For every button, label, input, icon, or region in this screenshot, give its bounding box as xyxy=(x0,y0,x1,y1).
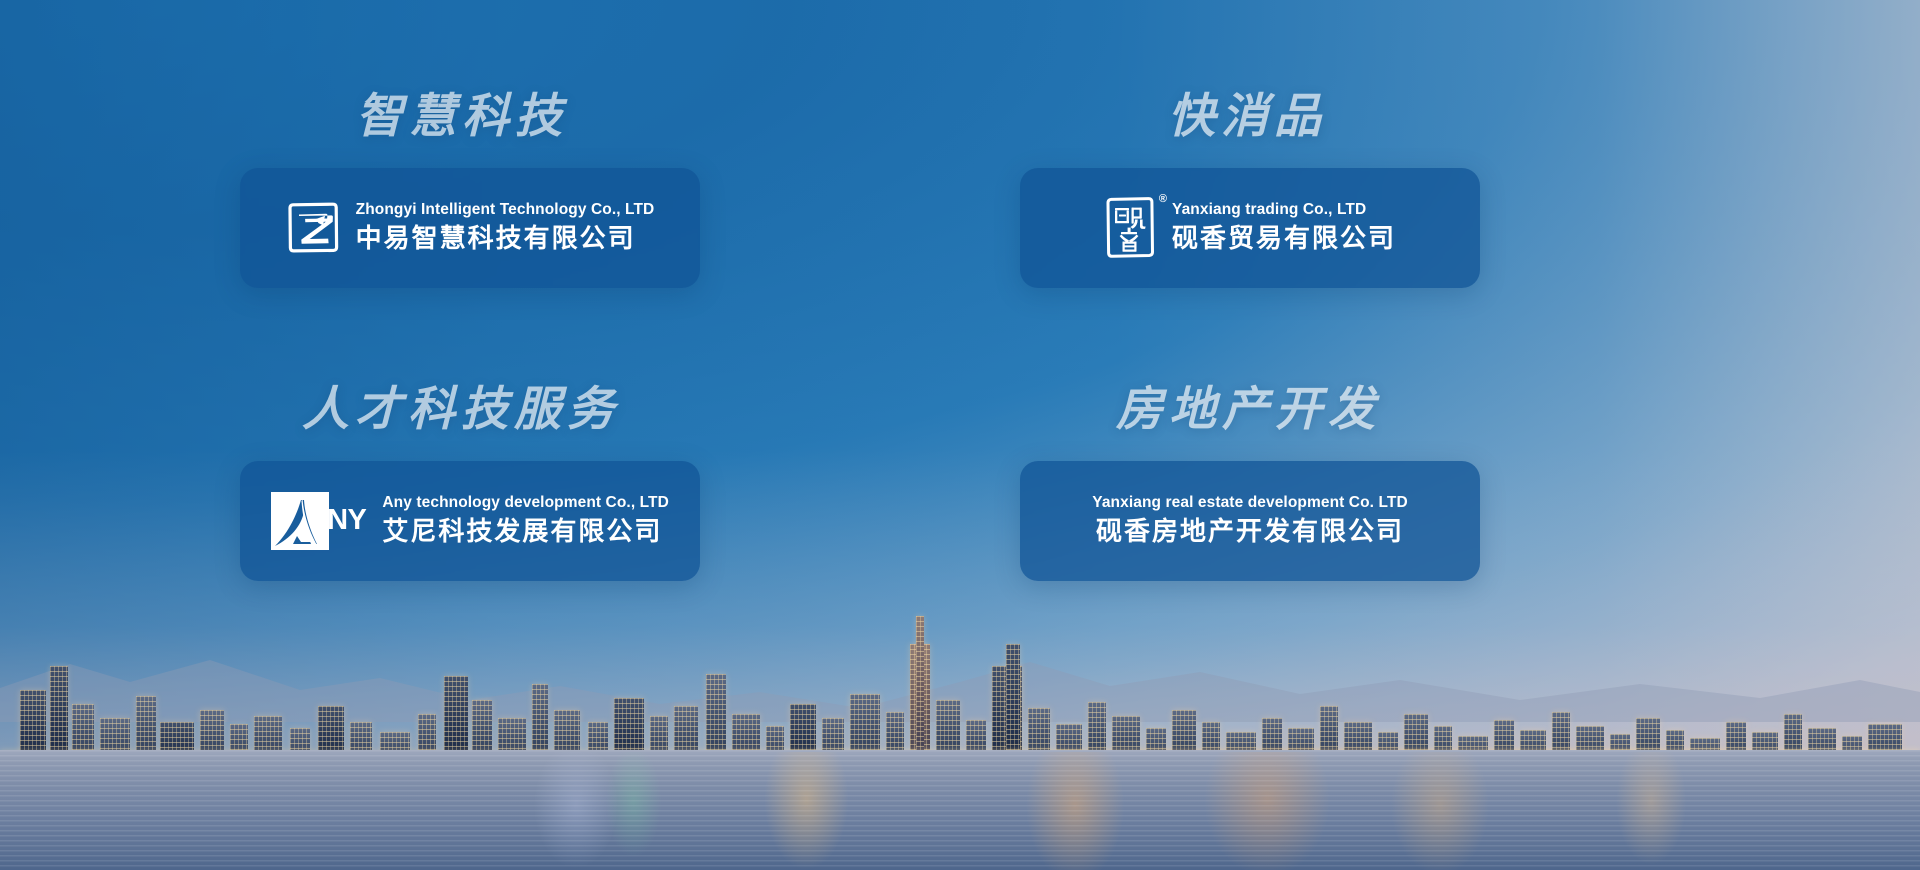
company-name-en-yanxiang-real-estate: Yanxiang real estate development Co. LTD xyxy=(1092,492,1408,514)
sector-talent-services: 人才科技服务 NY xyxy=(180,383,960,720)
company-name-en-yanxiang-trading: Yanxiang trading Co., LTD xyxy=(1172,199,1396,221)
company-name-en-any: Any technology development Co., LTD xyxy=(382,492,669,514)
sector-title-real-estate: 房地产开发 xyxy=(1116,383,1480,435)
registered-trademark-icon: ® xyxy=(1159,194,1167,205)
sector-fmcg: 快消品 xyxy=(960,46,1740,383)
company-card-zhongyi[interactable]: Zhongyi Intelligent Technology Co., LTD … xyxy=(240,168,700,288)
company-card-any[interactable]: NY Any technology development Co., LTD 艾… xyxy=(240,461,700,581)
company-name-cn-yanxiang-trading: 砚香贸易有限公司 xyxy=(1172,221,1396,256)
sector-title-smart-technology: 智慧科技 xyxy=(356,90,700,142)
company-names-yanxiang-trading: Yanxiang trading Co., LTD 砚香贸易有限公司 xyxy=(1172,199,1396,257)
any-logo-wordmark: NY xyxy=(327,506,366,535)
sector-real-estate: 房地产开发 Yanxiang real estate development C… xyxy=(960,383,1740,720)
company-name-en-zhongyi: Zhongyi Intelligent Technology Co., LTD xyxy=(356,199,655,221)
company-card-yanxiang-trading[interactable]: ® Yanxiang trading Co., LTD 砚香贸易有限公司 xyxy=(1020,168,1480,288)
yanxiang-seal-logo-icon: ® xyxy=(1104,196,1156,260)
sector-grid: 智慧科技 Zhongyi Intelligent Technology Co.,… xyxy=(0,0,1920,870)
company-names-zhongyi: Zhongyi Intelligent Technology Co., LTD … xyxy=(356,199,655,257)
company-card-yanxiang-real-estate[interactable]: Yanxiang real estate development Co. LTD… xyxy=(1020,461,1480,581)
any-mountain-logo-icon: NY xyxy=(271,492,366,550)
company-name-cn-yanxiang-real-estate: 砚香房地产开发有限公司 xyxy=(1092,514,1408,549)
company-names-yanxiang-real-estate: Yanxiang real estate development Co. LTD… xyxy=(1092,492,1408,550)
zhongyi-z-seal-logo-icon xyxy=(286,201,340,255)
banner-stage: 智慧科技 Zhongyi Intelligent Technology Co.,… xyxy=(0,0,1920,870)
sector-smart-technology: 智慧科技 Zhongyi Intelligent Technology Co.,… xyxy=(180,46,960,383)
sector-title-talent-services: 人才科技服务 xyxy=(302,383,700,435)
sector-title-fmcg: 快消品 xyxy=(1168,90,1480,142)
company-name-cn-any: 艾尼科技发展有限公司 xyxy=(382,514,669,549)
company-names-any: Any technology development Co., LTD 艾尼科技… xyxy=(382,492,669,550)
company-name-cn-zhongyi: 中易智慧科技有限公司 xyxy=(356,221,655,256)
